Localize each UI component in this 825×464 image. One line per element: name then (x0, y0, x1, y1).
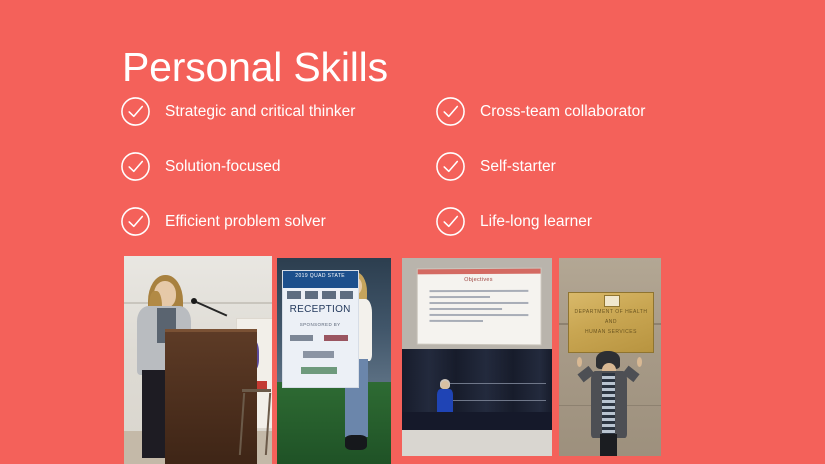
grass-lawn (277, 382, 391, 464)
sponsor-mark (301, 367, 337, 374)
person-legs (600, 434, 617, 456)
skill-label: Solution-focused (165, 157, 280, 177)
skill-item-solution-focused: Solution-focused (120, 139, 435, 194)
projection-screen: Objectives (416, 267, 541, 345)
bullet-line (429, 296, 490, 298)
plaque-line-3: HUMAN SERVICES (569, 329, 653, 335)
check-circle-icon (435, 96, 466, 127)
slide-accent-bar (417, 268, 540, 274)
sponsor-mark (303, 351, 335, 358)
sign-banner-text: 2019 QUAD STATE (283, 271, 358, 287)
slide-title: Objectives (417, 277, 540, 284)
photo-stage-presentation-scene: Objectives (402, 258, 552, 456)
bullet-line (429, 308, 501, 310)
sign-heading: RECEPTION (283, 304, 358, 315)
presentation-slide: Personal Skills Strategic and critical t… (0, 0, 825, 464)
skill-label: Efficient problem solver (165, 212, 326, 232)
sponsor-logo (340, 291, 354, 299)
check-circle-icon (120, 206, 151, 237)
plaque-line-1: DEPARTMENT OF HEALTH (569, 309, 653, 315)
woman-shoes (345, 435, 367, 449)
government-seal-icon (604, 295, 619, 307)
person-right-hand (637, 357, 642, 367)
stage-railing (447, 383, 546, 401)
check-circle-icon (435, 151, 466, 182)
skill-item-life-long-learner: Life-long learner (435, 194, 720, 249)
stage-skirt (402, 412, 552, 430)
check-circle-icon (120, 151, 151, 182)
photo-reception-sign-scene: 2019 QUAD STATE RECEPTION SPONSORED BY (277, 258, 391, 464)
slide-bullet-lines (429, 290, 527, 326)
photo-podium-speaker (124, 256, 272, 464)
person-scarf (602, 373, 615, 440)
tripod-top (242, 389, 270, 392)
skill-item-self-starter: Self-starter (435, 139, 720, 194)
microphone-head (191, 298, 197, 304)
bullet-line (429, 290, 527, 292)
sign-subheading: SPONSORED BY (283, 322, 358, 327)
skill-label: Cross-team collaborator (480, 102, 645, 122)
check-circle-icon (435, 206, 466, 237)
sponsor-logo-row (287, 291, 353, 299)
skills-list: Strategic and critical thinker Cross-tea… (120, 84, 720, 249)
sponsor-mark (290, 335, 313, 341)
photo-hhs-plaque: DEPARTMENT OF HEALTH AND HUMAN SERVICES (559, 258, 661, 456)
tripod-stand (239, 393, 271, 455)
sponsor-logo (305, 291, 319, 299)
skill-item-efficient-problem-solver: Efficient problem solver (120, 194, 435, 249)
presenter-blue-top (437, 389, 454, 415)
skill-label: Strategic and critical thinker (165, 102, 355, 122)
stage-floor (402, 430, 552, 456)
photo-podium-speaker-scene (124, 256, 272, 464)
bullet-line (429, 320, 483, 322)
reception-sign: 2019 QUAD STATE RECEPTION SPONSORED BY (282, 270, 359, 387)
skill-item-cross-team-collaborator: Cross-team collaborator (435, 84, 720, 139)
presenter-head (441, 381, 449, 389)
skill-label: Self-starter (480, 157, 556, 177)
sponsor-mark (324, 335, 348, 341)
sponsor-logo (322, 291, 336, 299)
skill-label: Life-long learner (480, 212, 592, 232)
skill-item-strategic-and-critical-thinker: Strategic and critical thinker (120, 84, 435, 139)
building-plaque: DEPARTMENT OF HEALTH AND HUMAN SERVICES (568, 292, 654, 353)
photo-reception-sign: 2019 QUAD STATE RECEPTION SPONSORED BY (277, 258, 391, 464)
plaque-line-2: AND (569, 319, 653, 325)
bullet-line (429, 314, 527, 316)
photo-stage-presentation: Objectives (402, 258, 552, 456)
check-circle-icon (120, 96, 151, 127)
bullet-line (429, 302, 527, 304)
photo-hhs-plaque-scene: DEPARTMENT OF HEALTH AND HUMAN SERVICES (559, 258, 661, 456)
sponsor-logo (287, 291, 301, 299)
